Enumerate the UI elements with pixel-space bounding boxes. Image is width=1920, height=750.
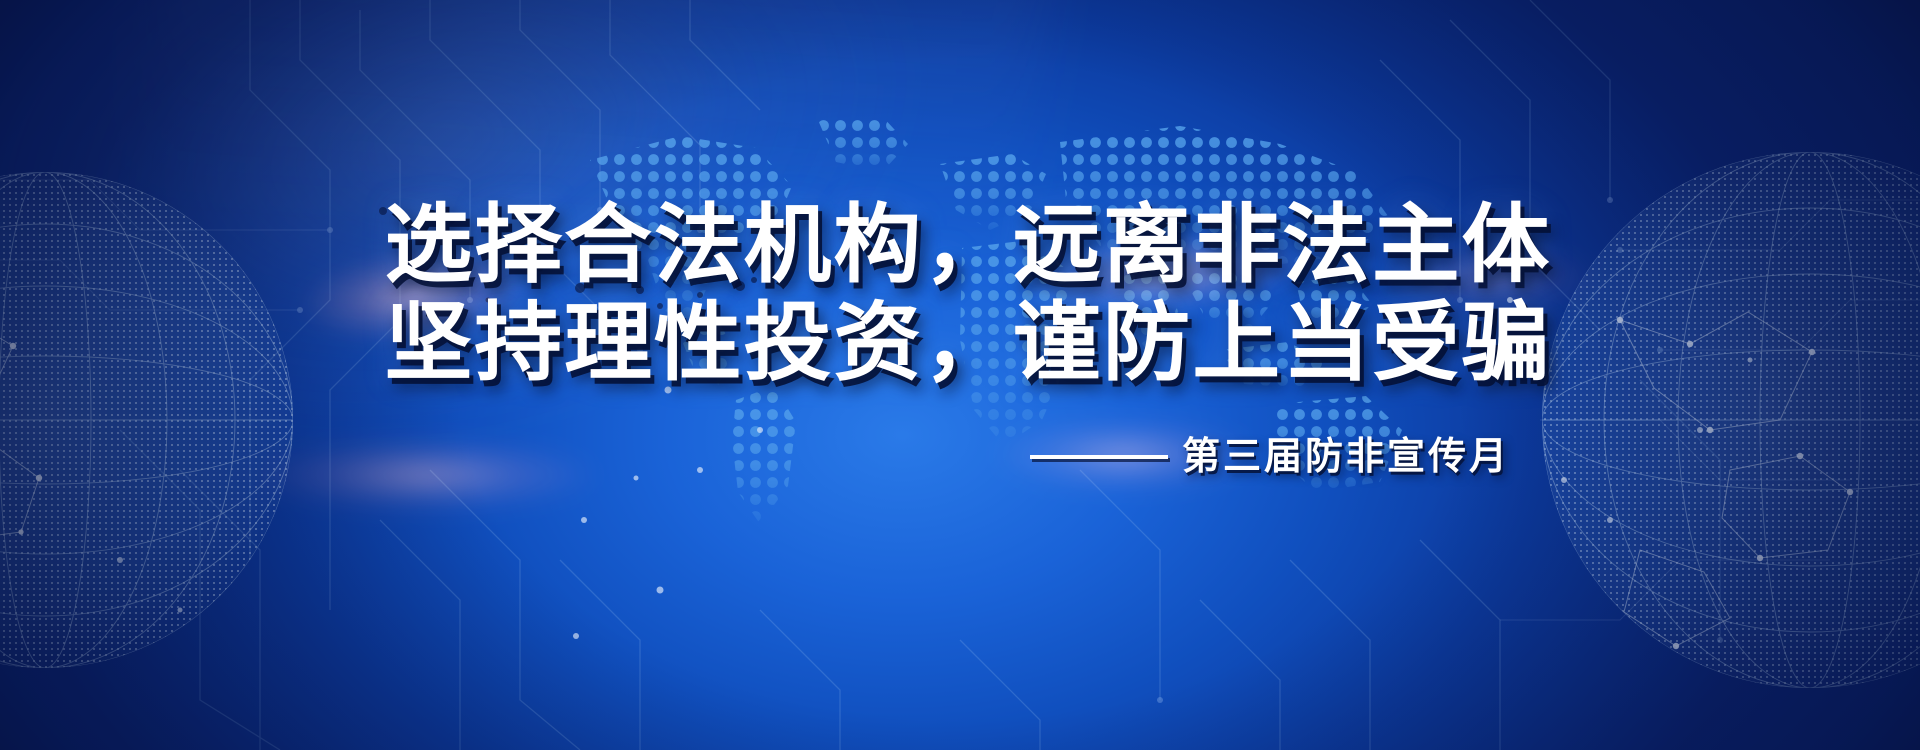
headline-line-2: 坚持理性投资，谨防上当受骗: [0, 294, 1920, 392]
headline-line-1: 选择合法机构，远离非法主体: [0, 196, 1920, 294]
subtitle-block: 第三届防非宣传月: [0, 434, 1920, 480]
headline-block: 选择合法机构，远离非法主体 坚持理性投资，谨防上当受骗: [0, 196, 1920, 392]
subtitle-text: 第三届防非宣传月: [1182, 434, 1510, 480]
promo-banner: 选择合法机构，远离非法主体 坚持理性投资，谨防上当受骗 第三届防非宣传月: [0, 0, 1920, 750]
banner-content: 选择合法机构，远离非法主体 坚持理性投资，谨防上当受骗 第三届防非宣传月: [0, 0, 1920, 750]
subtitle-dash-rule: [1030, 455, 1168, 459]
